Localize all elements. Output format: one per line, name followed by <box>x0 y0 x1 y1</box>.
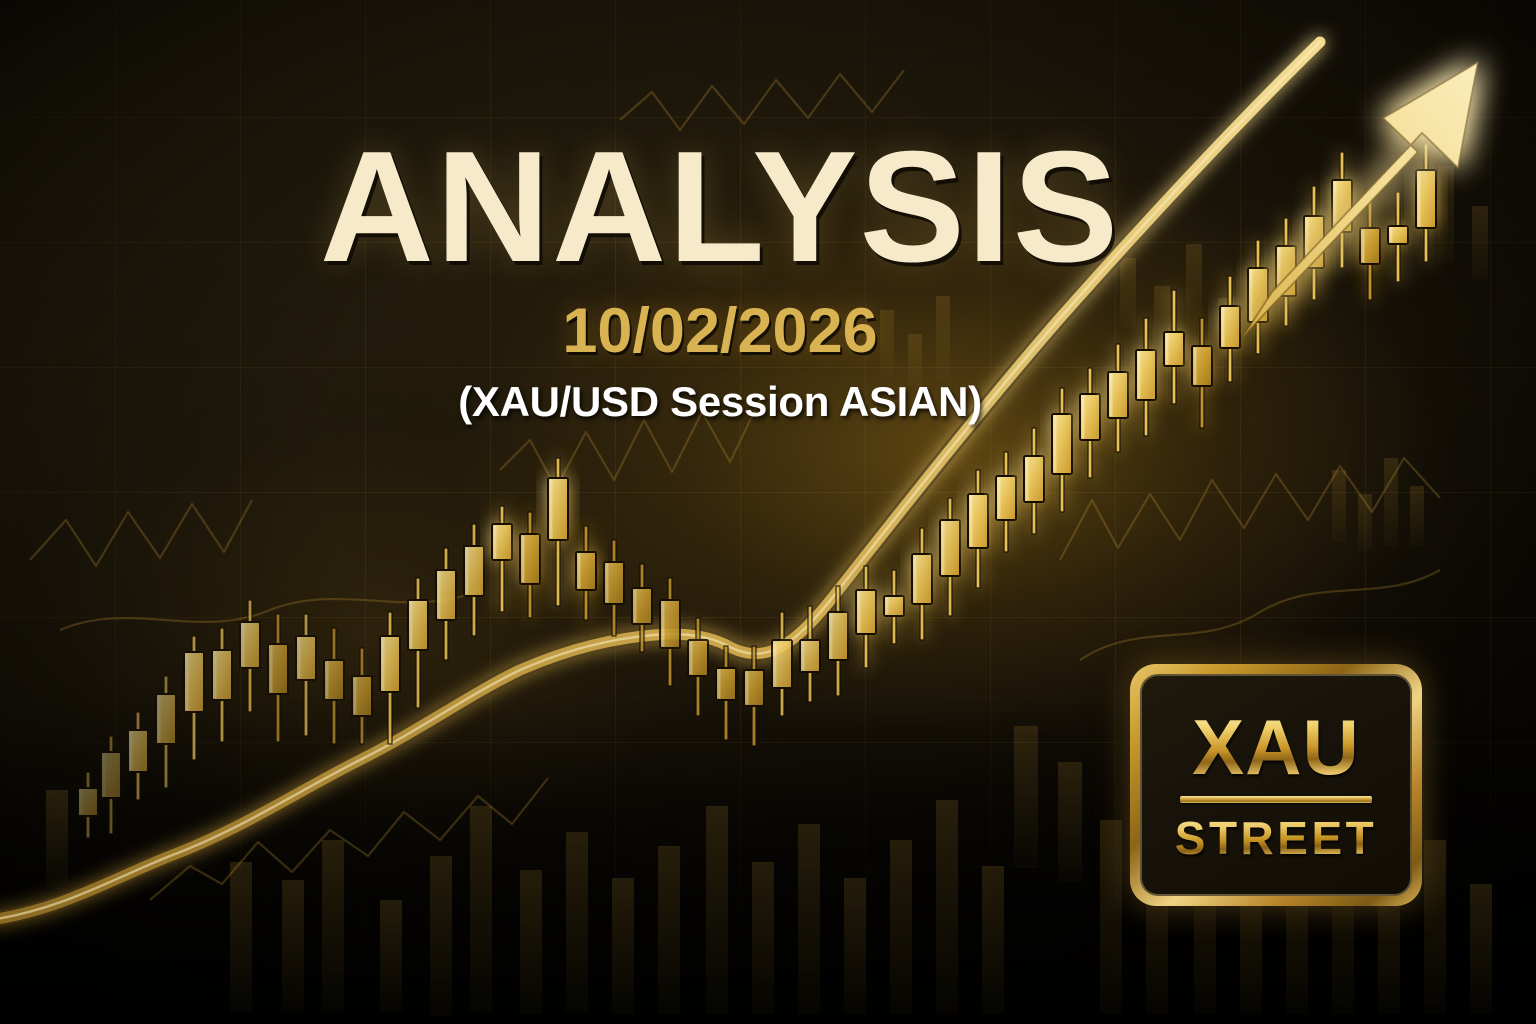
candlestick <box>1108 344 1128 452</box>
candle-highlight <box>242 624 245 667</box>
logo-inner-frame: XAU STREET <box>1140 674 1412 896</box>
banner-canvas: ANALYSIS 10/02/2026 (XAU/USD Session ASI… <box>0 0 1536 1024</box>
candle-highlight <box>970 496 973 547</box>
candlestick <box>884 570 904 644</box>
candle-highlight <box>494 526 497 559</box>
candlestick <box>184 636 204 760</box>
candle-highlight <box>606 564 609 603</box>
candlestick <box>268 614 288 742</box>
candlestick <box>1136 318 1156 436</box>
candlestick <box>324 628 344 744</box>
candle-highlight <box>438 572 441 619</box>
candlestick <box>128 712 148 800</box>
candlestick <box>408 578 428 708</box>
candle-highlight <box>690 642 693 675</box>
logo-xau-text: XAU <box>1192 709 1360 785</box>
candle-highlight <box>942 522 945 575</box>
candle-highlight <box>1250 270 1253 321</box>
candle-highlight <box>130 732 133 771</box>
candle-highlight <box>886 598 889 615</box>
candle-highlight <box>354 678 357 715</box>
candle-highlight <box>746 672 749 705</box>
candle-highlight <box>298 638 301 679</box>
candle-highlight <box>410 602 413 649</box>
candlestick <box>1024 428 1044 534</box>
candle-highlight <box>158 696 161 743</box>
candle-highlight <box>1026 458 1029 501</box>
candle-highlight <box>1390 228 1393 243</box>
candlestick <box>352 648 372 744</box>
candle-highlight <box>774 642 777 687</box>
candlestick <box>548 458 568 606</box>
candle-highlight <box>1138 352 1141 399</box>
candlestick <box>940 498 960 616</box>
candle-highlight <box>718 670 721 699</box>
candlestick <box>1388 192 1408 282</box>
candlestick <box>380 612 400 744</box>
candle-highlight <box>858 592 861 633</box>
candle-highlight <box>382 638 385 691</box>
candle-highlight <box>1362 230 1365 263</box>
candlestick <box>520 512 540 618</box>
candle-highlight <box>1110 374 1113 417</box>
candlestick <box>1220 276 1240 382</box>
moving-average-line <box>0 42 1320 920</box>
candlestick <box>78 772 98 838</box>
candlestick <box>912 528 932 640</box>
candlestick <box>212 628 232 742</box>
candlestick <box>156 676 176 788</box>
candlestick <box>576 526 596 620</box>
candlestick <box>856 566 876 668</box>
candle-highlight <box>326 662 329 699</box>
candle-highlight <box>1418 172 1421 227</box>
candlestick <box>1248 240 1268 354</box>
candlestick <box>604 540 624 636</box>
candle-highlight <box>1194 348 1197 385</box>
candlestick <box>240 600 260 712</box>
candlestick <box>1164 290 1184 404</box>
logo-street-text: STREET <box>1175 815 1377 861</box>
candle-highlight <box>830 614 833 659</box>
candle-highlight <box>550 480 553 539</box>
candlestick <box>996 452 1016 552</box>
candle-highlight <box>662 602 665 647</box>
candlestick <box>968 470 988 588</box>
logo-divider-rule <box>1180 796 1372 803</box>
candle-highlight <box>80 790 83 815</box>
candle-highlight <box>1082 396 1085 439</box>
candlestick <box>660 578 680 686</box>
candle-highlight <box>270 646 273 693</box>
candle-highlight <box>578 554 581 589</box>
candlestick <box>772 612 792 716</box>
candlestick <box>1080 368 1100 478</box>
xau-street-logo[interactable]: XAU STREET <box>1130 664 1422 906</box>
candle-highlight <box>634 590 637 623</box>
candlestick <box>296 614 316 736</box>
candlestick <box>716 646 736 740</box>
candle-highlight <box>802 642 805 671</box>
candle-highlight <box>214 652 217 699</box>
candle-highlight <box>466 548 469 595</box>
candle-highlight <box>998 478 1001 519</box>
candle-highlight <box>914 556 917 603</box>
candle-highlight <box>1166 334 1169 365</box>
candle-highlight <box>522 536 525 583</box>
candlestick <box>1360 196 1380 300</box>
candlestick <box>1052 388 1072 512</box>
candle-highlight <box>1054 416 1057 473</box>
candle-highlight <box>1222 308 1225 347</box>
candlestick <box>1192 318 1212 428</box>
candlestick <box>492 506 512 612</box>
candlestick <box>101 736 121 834</box>
candle-highlight <box>103 754 106 797</box>
candle-highlight <box>186 654 189 711</box>
up-arrow-icon <box>1242 62 1478 338</box>
candlestick <box>1416 144 1436 262</box>
candlestick <box>464 524 484 636</box>
candlestick <box>436 548 456 660</box>
